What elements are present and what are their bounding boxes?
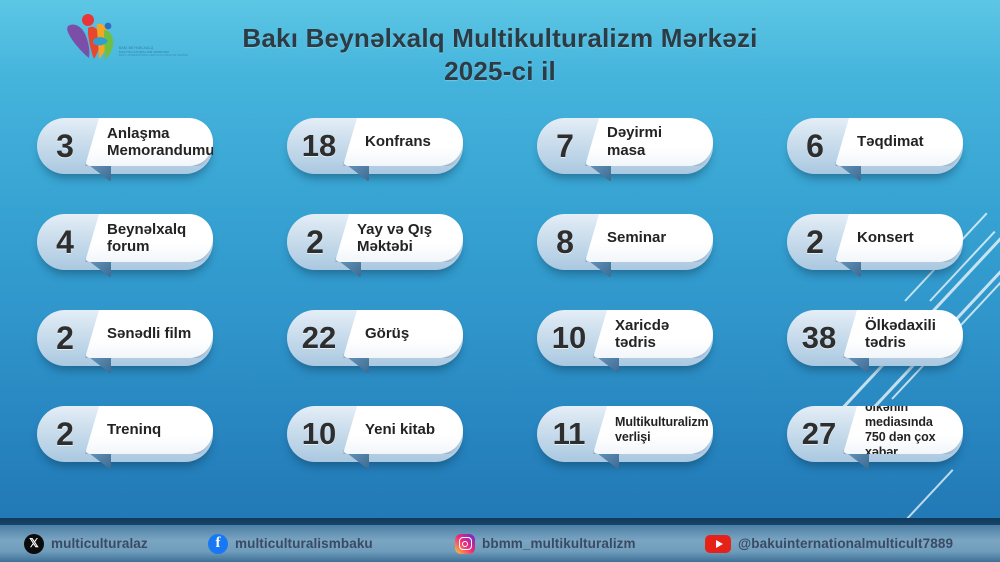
- stat-number: 38: [787, 310, 847, 366]
- stat-label-line: Xaricdə: [615, 317, 669, 334]
- stats-row: 4Beynəlxalqforum2Yay və QışMəktəbi8Semin…: [0, 214, 1000, 310]
- stat-number: 10: [287, 406, 347, 462]
- stats-cell: 22Görüş: [250, 310, 500, 406]
- stat-number: 3: [37, 118, 89, 174]
- stats-cell: 2Sənədli film: [0, 310, 250, 406]
- stat-label-line: Konsert: [857, 229, 914, 247]
- stat-label-panel: Sənədli film: [85, 310, 213, 358]
- stat-label-panel: Konsert: [835, 214, 963, 262]
- stat-label: Sənədli film: [107, 325, 191, 343]
- footer-divider: [0, 518, 1000, 525]
- stat-card: 11Multikulturalizmverlişi: [537, 406, 713, 462]
- stat-number: 27: [787, 406, 847, 462]
- stat-label-line: Məktəbi: [357, 238, 432, 255]
- stats-row: 2Sənədli film22Görüş10Xaricdətədris38Ölk…: [0, 310, 1000, 406]
- footer-social-bar: 𝕏multiculturalazfmulticulturalismbakubbm…: [0, 518, 1000, 562]
- stat-card: 22Görüş: [287, 310, 463, 366]
- stat-number: 11: [537, 406, 597, 462]
- stats-cell: 18Konfrans: [250, 118, 500, 214]
- stat-label-panel: Dəyirmi masa: [585, 118, 713, 166]
- instagram-lens: [462, 541, 468, 547]
- stat-label-line: Yay və Qış: [357, 221, 432, 238]
- stats-cell: 3AnlaşmaMemorandumu: [0, 118, 250, 214]
- stat-label-line: tədris: [615, 334, 669, 351]
- social-link-youtube[interactable]: @bakuinternationalmulticult7889: [705, 535, 953, 553]
- stats-row: 2Treninq10Yeni kitab11Multikulturalizmve…: [0, 406, 1000, 502]
- stat-label-line: Seminar: [607, 229, 666, 247]
- stat-label-line: Ölkədaxili: [865, 317, 936, 334]
- social-link-x[interactable]: 𝕏multiculturalaz: [24, 534, 148, 554]
- stat-label-panel: Ölkədaxilitədris: [843, 310, 963, 358]
- stat-label-panel: Seminar: [585, 214, 713, 262]
- stat-label-line: Beynəlxalq: [107, 221, 186, 238]
- footer-bar: 𝕏multiculturalazfmulticulturalismbakubbm…: [0, 525, 1000, 562]
- stat-label-panel: ölkənin mediasında750 dən çox xəbər: [843, 406, 963, 454]
- stat-card: 4Beynəlxalqforum: [37, 214, 213, 270]
- stat-card: 8Seminar: [537, 214, 713, 270]
- stats-cell: 2Yay və QışMəktəbi: [250, 214, 500, 310]
- stats-cell: 38Ölkədaxilitədris: [750, 310, 1000, 406]
- stats-cell: 27ölkənin mediasında750 dən çox xəbər: [750, 406, 1000, 502]
- stat-label-panel: AnlaşmaMemorandumu: [85, 118, 213, 166]
- play-triangle: [716, 540, 723, 548]
- stat-label: Dəyirmi masa: [607, 124, 701, 160]
- stats-cell: 7Dəyirmi masa: [500, 118, 750, 214]
- stat-label-panel: Multikulturalizmverlişi: [593, 406, 713, 454]
- x-icon[interactable]: 𝕏: [24, 534, 44, 554]
- stat-label-line: Yeni kitab: [365, 421, 435, 439]
- stat-label-line: Memorandumu: [107, 142, 215, 159]
- stat-label-panel: Beynəlxalqforum: [85, 214, 213, 262]
- stat-label: ölkənin mediasında750 dən çox xəbər: [865, 400, 951, 460]
- stat-number: 7: [537, 118, 589, 174]
- stat-number: 8: [537, 214, 589, 270]
- stat-label: Ölkədaxilitədris: [865, 317, 936, 351]
- stat-card: 38Ölkədaxilitədris: [787, 310, 963, 366]
- title-line-1: Bakı Beynəlxalq Multikulturalizm Mərkəzi: [242, 23, 757, 53]
- stat-label: Beynəlxalqforum: [107, 221, 186, 255]
- infographic-poster: BAKI BEYNƏLXALQ MULTIKULTURALIZM MƏRKƏZİ…: [0, 0, 1000, 562]
- stat-label-line: Sənədli film: [107, 325, 191, 343]
- stat-number: 10: [537, 310, 597, 366]
- stat-label-line: Multikulturalizm: [615, 415, 709, 430]
- stat-label-panel: Yay və QışMəktəbi: [335, 214, 463, 262]
- stat-number: 2: [287, 214, 339, 270]
- stat-label-line: Konfrans: [365, 133, 431, 151]
- facebook-icon[interactable]: f: [208, 534, 228, 554]
- stat-label-line: Anlaşma: [107, 125, 215, 142]
- social-handle[interactable]: multiculturalismbaku: [235, 536, 373, 551]
- stat-number: 2: [787, 214, 839, 270]
- stat-number: 18: [287, 118, 347, 174]
- stat-card: 10Yeni kitab: [287, 406, 463, 462]
- stats-grid: 3AnlaşmaMemorandumu18Konfrans7Dəyirmi ma…: [0, 118, 1000, 502]
- stat-label: Multikulturalizmverlişi: [615, 415, 709, 445]
- title-line-2: 2025-ci il: [0, 55, 1000, 88]
- stat-number: 6: [787, 118, 839, 174]
- stat-label-line: tədris: [865, 334, 936, 351]
- stat-label: AnlaşmaMemorandumu: [107, 125, 215, 159]
- stats-cell: 8Seminar: [500, 214, 750, 310]
- stats-cell: 10Yeni kitab: [250, 406, 500, 502]
- stat-label-line: Təqdimat: [857, 133, 924, 151]
- stats-row: 3AnlaşmaMemorandumu18Konfrans7Dəyirmi ma…: [0, 118, 1000, 214]
- stat-label: Treninq: [107, 421, 161, 439]
- stat-label: Konfrans: [365, 133, 431, 151]
- stat-label-line: Görüş: [365, 325, 409, 343]
- youtube-icon[interactable]: [705, 535, 731, 553]
- stat-label: Təqdimat: [857, 133, 924, 151]
- stat-label: Seminar: [607, 229, 666, 247]
- stat-card: 18Konfrans: [287, 118, 463, 174]
- stats-cell: 2Treninq: [0, 406, 250, 502]
- stat-card: 2Yay və QışMəktəbi: [287, 214, 463, 270]
- stat-label-line: verlişi: [615, 430, 709, 445]
- stat-number: 22: [287, 310, 347, 366]
- stat-label-panel: Görüş: [343, 310, 463, 358]
- stat-card: 2Konsert: [787, 214, 963, 270]
- social-handle[interactable]: @bakuinternationalmulticult7889: [738, 536, 953, 551]
- instagram-frame: [459, 537, 472, 550]
- stat-label-panel: Təqdimat: [835, 118, 963, 166]
- stats-cell: 4Beynəlxalqforum: [0, 214, 250, 310]
- stat-card: 2Treninq: [37, 406, 213, 462]
- stat-number: 2: [37, 310, 89, 366]
- stats-cell: 11Multikulturalizmverlişi: [500, 406, 750, 502]
- stat-card: 2Sənədli film: [37, 310, 213, 366]
- stats-cell: 6Təqdimat: [750, 118, 1000, 214]
- stat-label: Yay və QışMəktəbi: [357, 221, 432, 255]
- stats-cell: 10Xaricdətədris: [500, 310, 750, 406]
- stat-card: 7Dəyirmi masa: [537, 118, 713, 174]
- stat-card: 6Təqdimat: [787, 118, 963, 174]
- instagram-icon[interactable]: [455, 534, 475, 554]
- stat-label-panel: Konfrans: [343, 118, 463, 166]
- stats-cell: 2Konsert: [750, 214, 1000, 310]
- stat-label-panel: Xaricdətədris: [593, 310, 713, 358]
- stat-number: 2: [37, 406, 89, 462]
- stat-label-line: 750 dən çox xəbər: [865, 430, 951, 460]
- social-handle[interactable]: multiculturalaz: [51, 536, 148, 551]
- stat-label-line: Dəyirmi masa: [607, 124, 701, 160]
- stat-number: 4: [37, 214, 89, 270]
- stat-label-panel: Yeni kitab: [343, 406, 463, 454]
- social-link-facebook[interactable]: fmulticulturalismbaku: [208, 534, 373, 554]
- stat-label-panel: Treninq: [85, 406, 213, 454]
- stat-label: Görüş: [365, 325, 409, 343]
- stat-label-line: forum: [107, 238, 186, 255]
- stat-label: Xaricdətədris: [615, 317, 669, 351]
- social-link-instagram[interactable]: bbmm_multikulturalizm: [455, 534, 636, 554]
- stat-card: 27ölkənin mediasında750 dən çox xəbər: [787, 406, 963, 462]
- stat-label-line: Treninq: [107, 421, 161, 439]
- stat-card: 10Xaricdətədris: [537, 310, 713, 366]
- social-handle[interactable]: bbmm_multikulturalizm: [482, 536, 636, 551]
- page-title: Bakı Beynəlxalq Multikulturalizm Mərkəzi…: [0, 22, 1000, 88]
- stat-card: 3AnlaşmaMemorandumu: [37, 118, 213, 174]
- stat-label: Konsert: [857, 229, 914, 247]
- stat-label: Yeni kitab: [365, 421, 435, 439]
